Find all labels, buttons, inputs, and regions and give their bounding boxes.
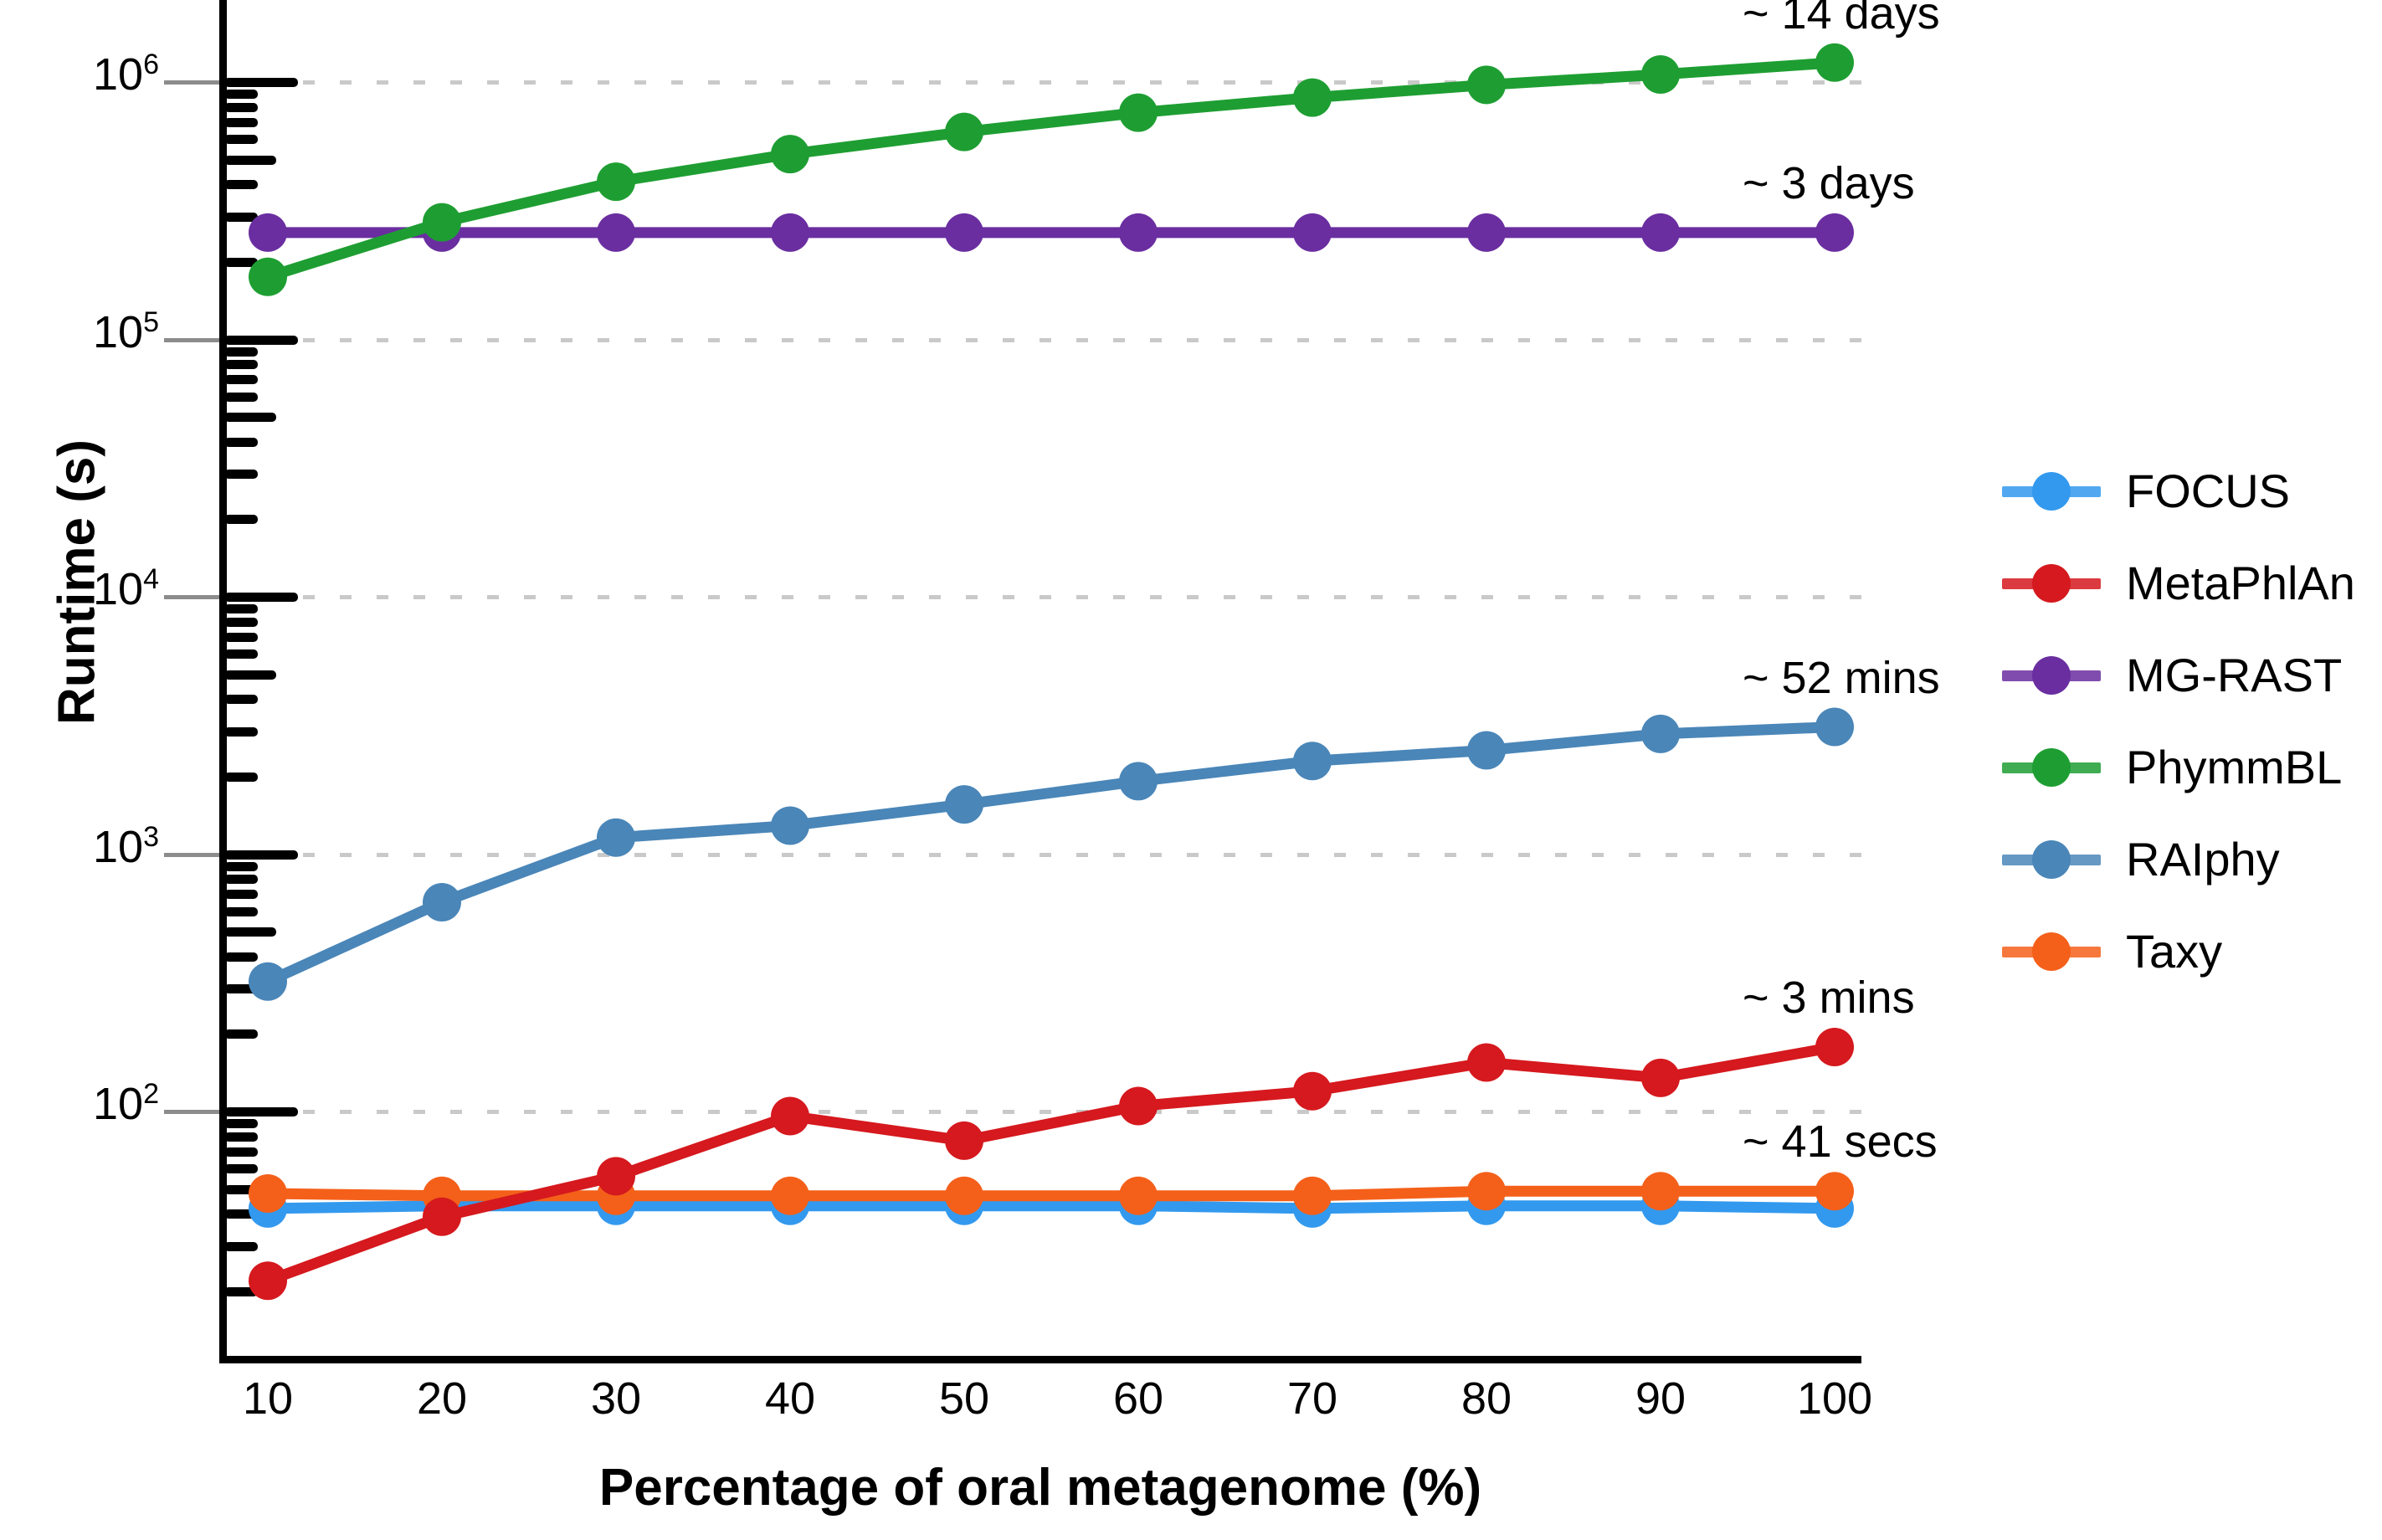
y-tick-label: 106 [93, 49, 159, 100]
legend-marker-icon [2002, 656, 2101, 695]
y-tick-minor [224, 695, 258, 704]
y-tick-minor [224, 515, 258, 524]
y-tick-minor [224, 156, 276, 165]
y-tick-minor [224, 135, 258, 144]
x-tick-label: 70 [1245, 1373, 1379, 1424]
chart-figure: 106105104103102 102030405060708090100 Ru… [0, 0, 2382, 1540]
legend: FOCUSMetaPhlAnMG-RASTPhymmBLRAIphyTaxy [2002, 445, 2355, 998]
y-tick-minor [224, 633, 258, 642]
legend-marker-icon [2002, 840, 2101, 879]
annotation-label: ~ 14 days [1743, 0, 1940, 39]
y-tick-minor [224, 413, 276, 422]
legend-dot [2032, 932, 2071, 971]
y-tick-minor [224, 1242, 258, 1251]
y-tick-minor [224, 118, 258, 127]
x-axis-title: Percentage of oral metagenome (%) [219, 1458, 1861, 1517]
legend-item-mg-rast[interactable]: MG-RAST [2002, 629, 2355, 721]
y-tick-minor [224, 1132, 258, 1142]
y-tick-major [224, 850, 298, 860]
y-tick-stub [164, 338, 223, 342]
annotation-label: ~ 41 secs [1743, 1116, 1938, 1168]
legend-marker-icon [2002, 472, 2101, 511]
y-tick-label: 105 [93, 306, 159, 358]
y-tick-minor [224, 375, 258, 384]
y-tick-minor [224, 773, 258, 782]
y-tick-minor [224, 1164, 258, 1173]
x-tick-label: 10 [201, 1373, 335, 1424]
legend-dot [2032, 472, 2071, 511]
gridline [229, 338, 1861, 342]
x-tick-label: 90 [1594, 1373, 1727, 1424]
y-tick-minor [224, 90, 258, 99]
legend-label: PhymmBL [2126, 744, 2342, 791]
gridline [229, 80, 1861, 85]
legend-label: RAIphy [2126, 836, 2280, 883]
y-tick-minor [224, 1185, 276, 1194]
annotation-label: ~ 3 days [1743, 157, 1915, 209]
y-tick-minor [224, 470, 258, 479]
y-tick-stub [164, 595, 223, 599]
y-tick-minor [224, 103, 258, 112]
gridline [229, 1110, 1861, 1114]
y-tick-label: 103 [93, 821, 159, 873]
y-tick-minor [224, 180, 258, 189]
legend-item-raiphy[interactable]: RAIphy [2002, 814, 2355, 906]
x-tick-label: 30 [549, 1373, 683, 1424]
legend-marker-icon [2002, 564, 2101, 603]
legend-dot [2032, 564, 2071, 603]
y-tick-minor [224, 618, 258, 627]
y-tick-major [224, 1107, 298, 1116]
y-tick-minor [224, 907, 258, 916]
y-axis-title: Runtime (s) [48, 407, 107, 758]
y-tick-major [224, 593, 298, 602]
legend-dot [2032, 656, 2071, 695]
y-tick-major [224, 78, 298, 87]
y-tick-minor [224, 438, 258, 447]
y-tick-minor [224, 727, 258, 737]
x-tick-label: 100 [1768, 1373, 1902, 1424]
x-tick-label: 60 [1071, 1373, 1205, 1424]
y-tick-stub [164, 853, 223, 857]
gridline [229, 853, 1861, 857]
x-tick-label: 20 [375, 1373, 509, 1424]
x-axis-line [219, 1356, 1861, 1363]
y-tick-major [224, 336, 298, 345]
y-tick-minor [224, 875, 258, 884]
y-tick-minor [224, 927, 276, 937]
legend-item-phymmbl[interactable]: PhymmBL [2002, 721, 2355, 814]
y-tick-minor [224, 393, 258, 402]
legend-label: MetaPhlAn [2126, 560, 2355, 607]
plot-area [219, 0, 1861, 1360]
legend-dot [2032, 748, 2071, 787]
y-tick-minor [224, 1029, 258, 1039]
y-tick-stub [164, 80, 223, 85]
annotation-label: ~ 3 mins [1743, 972, 1915, 1024]
y-tick-minor [224, 952, 258, 962]
y-tick-minor [224, 670, 276, 680]
legend-item-taxy[interactable]: Taxy [2002, 906, 2355, 998]
x-tick-label: 40 [723, 1373, 857, 1424]
legend-item-focus[interactable]: FOCUS [2002, 445, 2355, 537]
annotation-label: ~ 52 mins [1743, 652, 1940, 704]
legend-dot [2032, 840, 2071, 879]
y-tick-stub [164, 1110, 223, 1114]
y-tick-minor [224, 1287, 258, 1296]
y-tick-minor [224, 984, 258, 993]
y-axis-line [219, 0, 227, 1363]
legend-label: MG-RAST [2126, 652, 2342, 699]
y-tick-minor [224, 360, 258, 369]
x-tick-label: 80 [1419, 1373, 1553, 1424]
y-tick-minor [224, 862, 258, 871]
legend-label: FOCUS [2126, 468, 2290, 515]
y-tick-minor [224, 649, 258, 659]
y-tick-minor [224, 1209, 258, 1219]
y-tick-minor [224, 213, 258, 222]
y-tick-label: 102 [93, 1078, 159, 1130]
y-tick-minor [224, 347, 258, 357]
y-tick-minor [224, 890, 258, 899]
y-tick-minor [224, 258, 258, 267]
legend-label: Taxy [2126, 928, 2222, 975]
y-tick-minor [224, 604, 258, 613]
y-tick-minor [224, 1147, 258, 1157]
x-tick-label: 50 [897, 1373, 1031, 1424]
legend-marker-icon [2002, 748, 2101, 787]
legend-item-metaphlan[interactable]: MetaPhlAn [2002, 537, 2355, 629]
legend-marker-icon [2002, 932, 2101, 971]
y-tick-minor [224, 1119, 258, 1128]
gridline [229, 595, 1861, 599]
